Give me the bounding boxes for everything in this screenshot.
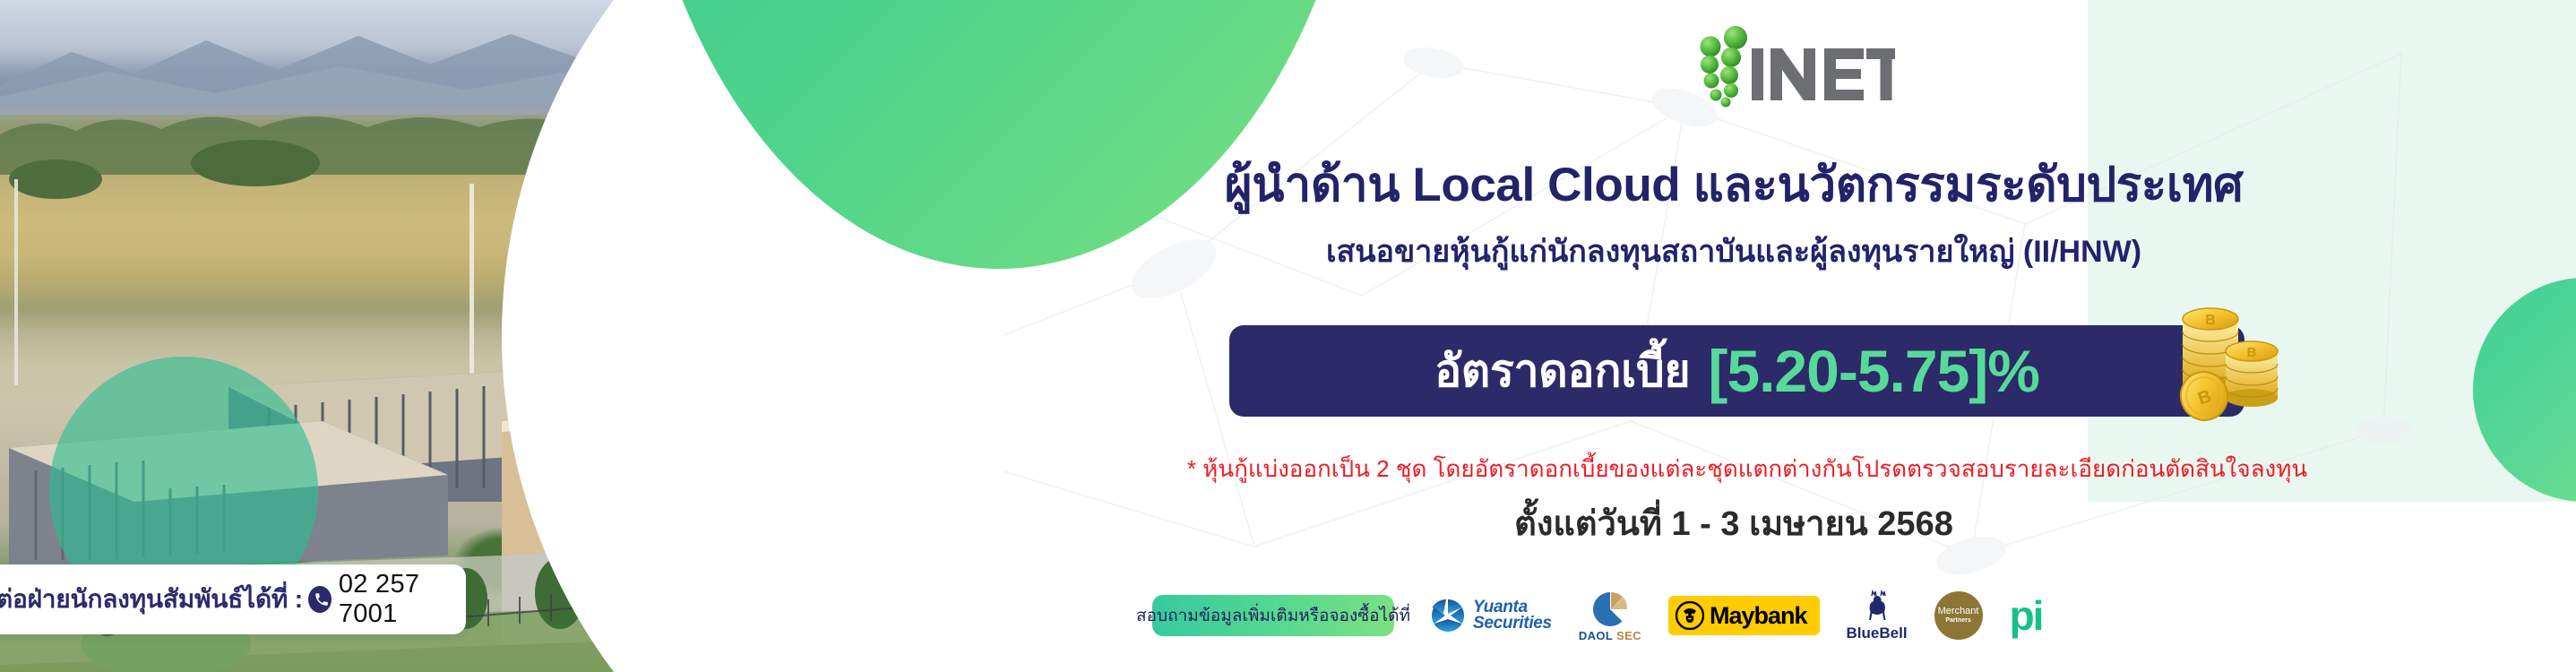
contact-label: ติดต่อฝ่ายนักลงทุนสัมพันธ์ได้ที่ : bbox=[0, 580, 303, 619]
partner-logo-bluebell[interactable]: BlueBell bbox=[1847, 589, 1908, 642]
partner-logos: Yuanta Securities DAOL bbox=[1428, 589, 2042, 642]
inet-dots-logo bbox=[1701, 26, 1748, 108]
interest-rate-value: [5.20-5.75]% bbox=[1708, 337, 2039, 405]
partner-logo-yuanta[interactable]: Yuanta Securities bbox=[1428, 596, 1552, 635]
yuanta-line2: Securities bbox=[1473, 616, 1552, 632]
svg-text:B: B bbox=[2205, 313, 2216, 328]
merchant-line2: Partners bbox=[1945, 616, 1970, 625]
svg-text:B: B bbox=[2247, 345, 2257, 360]
phone-icon bbox=[308, 586, 332, 613]
maybank-tiger-icon bbox=[1676, 601, 1704, 630]
investor-relations-contact[interactable]: ติดต่อฝ่ายนักลงทุนสัมพันธ์ได้ที่ : 02 25… bbox=[0, 564, 466, 634]
interest-rate-box: อัตราดอกเบี้ย [5.20-5.75]% bbox=[1229, 325, 2244, 417]
page-subtitle: เสนอขายหุ้นกู้แก่นักลงทุนสถาบันและผู้ลงท… bbox=[1021, 235, 2446, 270]
promo-content: ผู้นำด้าน Local Cloud และนวัตกรรมระดับปร… bbox=[1021, 0, 2576, 672]
page-title: ผู้นำด้าน Local Cloud และนวัตกรรมระดับปร… bbox=[1021, 159, 2446, 211]
partner-logo-pi[interactable]: pi bbox=[2010, 599, 2043, 633]
cta-and-partners-row: สอบถามข้อมูลเพิ่มเติมหรือจองซื้อได้ที่ bbox=[1021, 581, 2576, 650]
daol-line1: DAOL bbox=[1579, 629, 1613, 642]
inquire-subscribe-button[interactable]: สอบถามข้อมูลเพิ่มเติมหรือจองซื้อได้ที่ bbox=[1152, 595, 1394, 636]
merchant-circle-icon: Merchant Partners bbox=[1934, 591, 1983, 640]
partner-logo-maybank[interactable]: Maybank bbox=[1668, 596, 1820, 635]
bond-disclaimer: * หุ้นกู้แบ่งออกเป็น 2 ชุด โดยอัตราดอกเบ… bbox=[1021, 451, 2473, 487]
inet-bond-promo-banner: ติดต่อฝ่ายนักลงทุนสัมพันธ์ได้ที่ : 02 25… bbox=[0, 0, 2576, 672]
daol-wordmark: DAOL SEC bbox=[1579, 629, 1641, 642]
yuanta-star-icon bbox=[1428, 596, 1468, 635]
offering-date: ตั้งแต่วันที่ 1 - 3 เมษายน 2568 bbox=[1021, 495, 2446, 550]
interest-rate-label: อัตราดอกเบี้ย bbox=[1434, 336, 1690, 407]
yuanta-wordmark: Yuanta Securities bbox=[1473, 599, 1552, 632]
pi-wordmark: pi bbox=[2010, 599, 2043, 633]
bluebell-wordmark: BlueBell bbox=[1847, 625, 1908, 642]
inet-logo bbox=[1680, 13, 1895, 111]
daol-line2: SEC bbox=[1616, 629, 1641, 642]
gold-coins-icon: B B B bbox=[2159, 296, 2303, 430]
bluebell-deer-icon bbox=[1859, 589, 1895, 625]
partner-logo-merchant[interactable]: Merchant Partners bbox=[1934, 591, 1983, 640]
daol-circle-icon bbox=[1589, 590, 1632, 629]
partner-logo-daol[interactable]: DAOL SEC bbox=[1579, 590, 1641, 642]
maybank-wordmark: Maybank bbox=[1710, 602, 1807, 630]
contact-phone-number: 02 257 7001 bbox=[339, 570, 466, 629]
merchant-line1: Merchant bbox=[1938, 607, 1979, 616]
